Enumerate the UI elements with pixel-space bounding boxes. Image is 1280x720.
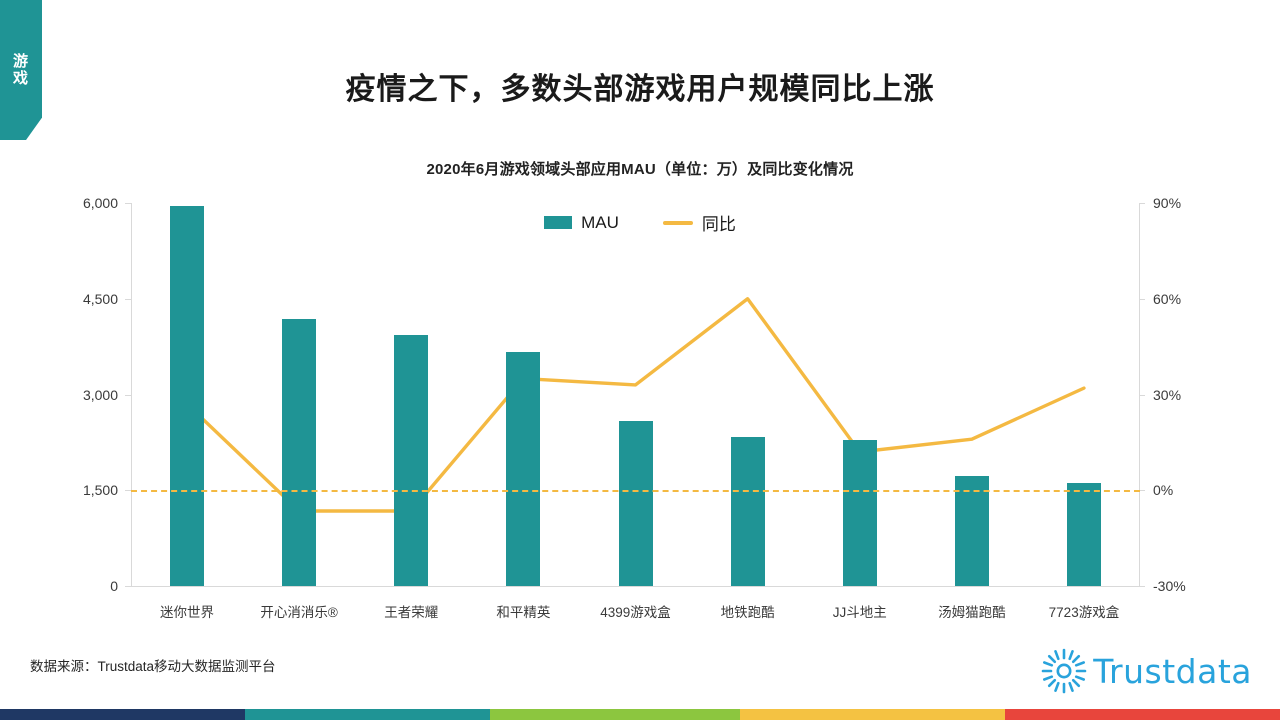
bar-9[interactable] bbox=[1067, 483, 1101, 586]
bar-2[interactable] bbox=[282, 319, 316, 586]
x-axis-label-4: 和平精英 bbox=[496, 601, 550, 621]
y-axis-left-label: 0 bbox=[110, 578, 118, 594]
bar-3[interactable] bbox=[394, 335, 428, 587]
y-axis-right-label: 0% bbox=[1153, 482, 1173, 498]
y-axis-left-tick bbox=[125, 395, 131, 396]
y-axis-left-label: 4,500 bbox=[83, 291, 118, 307]
y-axis-right-tick bbox=[1139, 203, 1145, 204]
x-axis-label-7: JJ斗地主 bbox=[833, 601, 887, 621]
y-axis-right-label: 90% bbox=[1153, 195, 1181, 211]
plot-area: 01,5003,0004,5006,000-30%0%30%60%90%迷你世界… bbox=[131, 203, 1140, 586]
x-axis-label-5: 4399游戏盒 bbox=[600, 601, 671, 621]
bar-7[interactable] bbox=[843, 440, 877, 586]
y-axis-right-tick bbox=[1139, 586, 1145, 587]
y-axis-right-label: 30% bbox=[1153, 387, 1181, 403]
x-axis bbox=[131, 586, 1140, 587]
source-note: 数据来源：Trustdata移动大数据监测平台 bbox=[30, 655, 276, 675]
y-axis-left-label: 1,500 bbox=[83, 482, 118, 498]
y-axis-left-label: 3,000 bbox=[83, 387, 118, 403]
bar-4[interactable] bbox=[506, 352, 540, 586]
sunburst-icon bbox=[1041, 648, 1087, 694]
chart-canvas: 01,5003,0004,5006,000-30%0%30%60%90%迷你世界… bbox=[0, 0, 1280, 720]
y-axis-left-tick bbox=[125, 203, 131, 204]
y-axis-right-label: 60% bbox=[1153, 291, 1181, 307]
zero-reference-line bbox=[131, 490, 1140, 492]
bar-5[interactable] bbox=[619, 421, 653, 586]
x-axis-label-9: 7723游戏盒 bbox=[1049, 601, 1120, 621]
x-axis-label-8: 汤姆猫跑酷 bbox=[938, 601, 1006, 621]
bar-6[interactable] bbox=[731, 437, 765, 586]
x-axis-label-1: 迷你世界 bbox=[160, 601, 214, 621]
strip-segment-5 bbox=[1005, 709, 1280, 720]
y-axis-left-tick bbox=[125, 299, 131, 300]
y-axis-left-tick bbox=[125, 586, 131, 587]
bottom-color-strip bbox=[0, 709, 1280, 720]
brand-logo-text: Trustdata bbox=[1093, 652, 1252, 691]
x-axis-label-6: 地铁跑酷 bbox=[721, 601, 775, 621]
strip-segment-3 bbox=[490, 709, 740, 720]
y-axis-right-tick bbox=[1139, 299, 1145, 300]
strip-segment-1 bbox=[0, 709, 245, 720]
y-axis-left-label: 6,000 bbox=[83, 195, 118, 211]
brand-logo: Trustdata bbox=[1041, 648, 1252, 694]
x-axis-label-3: 王者荣耀 bbox=[384, 601, 438, 621]
x-axis-label-2: 开心消消乐® bbox=[260, 601, 337, 621]
strip-segment-4 bbox=[740, 709, 1005, 720]
y-axis-right-tick bbox=[1139, 395, 1145, 396]
bar-1[interactable] bbox=[170, 206, 204, 586]
strip-segment-2 bbox=[245, 709, 490, 720]
y-axis-right-label: -30% bbox=[1153, 578, 1186, 594]
